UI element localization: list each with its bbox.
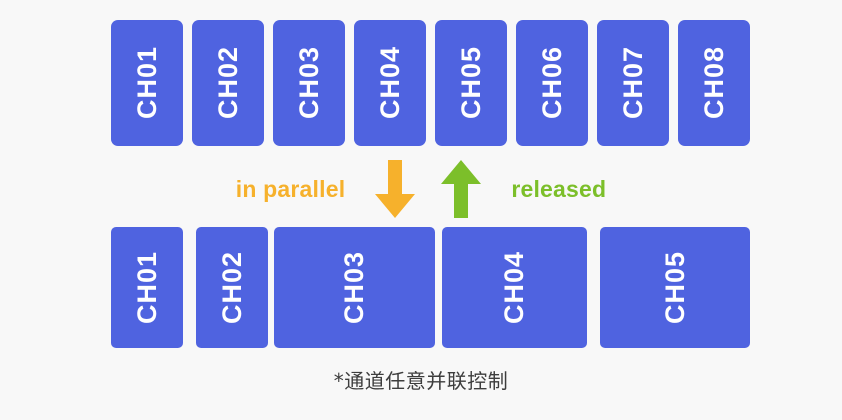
channel-label: CH02 [215, 46, 242, 119]
diagram-caption: *通道任意并联控制 [0, 365, 842, 394]
channel-box[interactable]: CH04 [442, 227, 587, 348]
released-label: released [511, 176, 606, 203]
channel-label: CH05 [458, 46, 485, 119]
transition-band: in parallel released [0, 158, 842, 220]
channel-box[interactable]: CH06 [516, 20, 588, 146]
channel-box[interactable]: CH05 [600, 227, 750, 348]
channel-box[interactable]: CH08 [678, 20, 750, 146]
channel-label: CH03 [341, 251, 368, 324]
channel-label: CH05 [662, 251, 689, 324]
channel-box[interactable]: CH07 [597, 20, 669, 146]
channel-box[interactable]: CH03 [274, 227, 435, 348]
arrow-up-icon [441, 160, 481, 218]
channel-box[interactable]: CH03 [273, 20, 345, 146]
channel-label: CH03 [296, 46, 323, 119]
channel-box[interactable]: CH05 [435, 20, 507, 146]
parallel-channel-diagram: CH01 CH02 CH03 CH04 CH05 CH06 CH07 CH08 … [0, 0, 842, 420]
channel-box[interactable]: CH02 [196, 227, 268, 348]
channel-label: CH02 [219, 251, 246, 324]
channel-label: CH01 [134, 46, 161, 119]
channel-label: CH01 [134, 251, 161, 324]
channel-label: CH04 [377, 46, 404, 119]
channel-box[interactable]: CH01 [111, 20, 183, 146]
channel-label: CH07 [620, 46, 647, 119]
arrow-pair [375, 160, 481, 218]
channel-box[interactable]: CH01 [111, 227, 183, 348]
in-parallel-label: in parallel [236, 176, 346, 203]
channel-label: CH06 [539, 46, 566, 119]
channel-box[interactable]: CH02 [192, 20, 264, 146]
arrow-down-icon [375, 160, 415, 218]
channel-label: CH04 [501, 251, 528, 324]
channel-box[interactable]: CH04 [354, 20, 426, 146]
channel-label: CH08 [701, 46, 728, 119]
